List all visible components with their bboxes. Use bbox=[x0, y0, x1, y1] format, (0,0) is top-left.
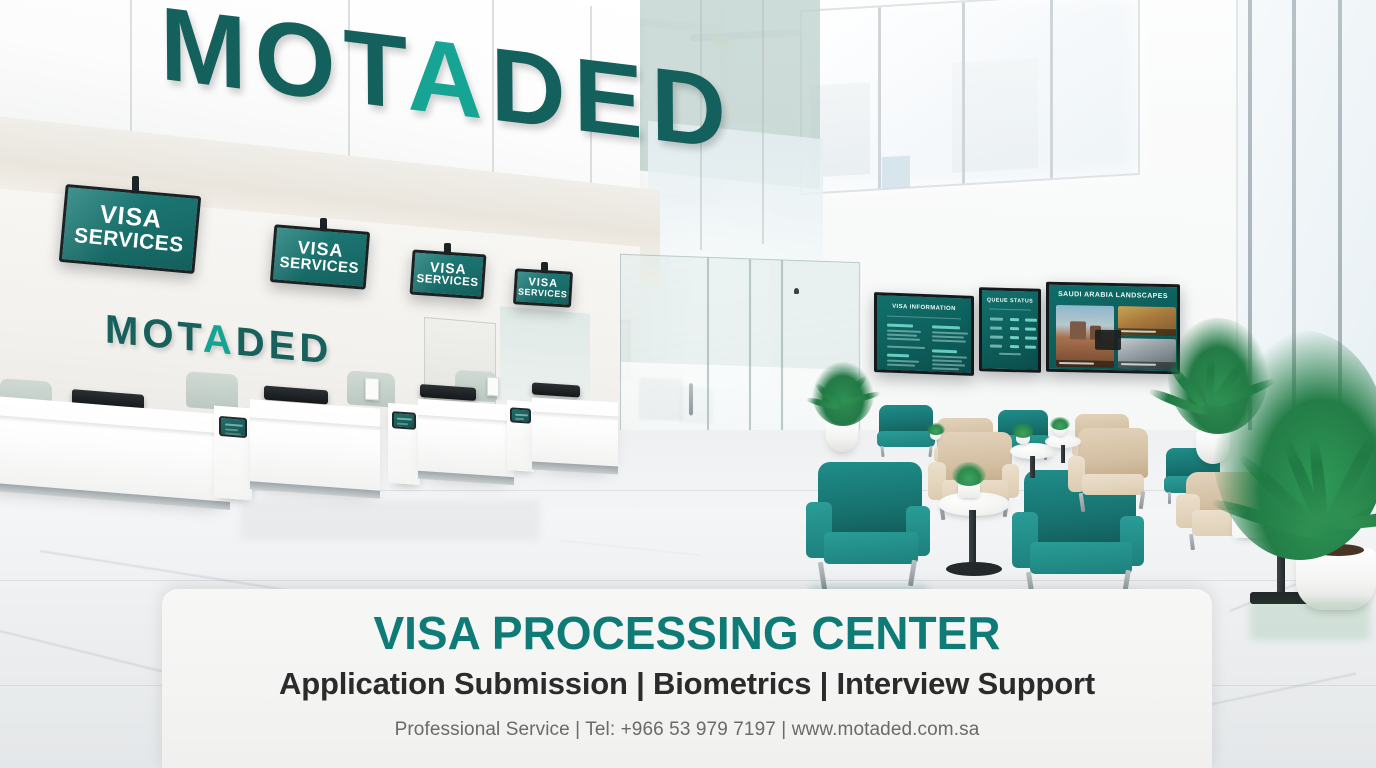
panel-footer bbox=[982, 341, 1038, 361]
queue-row-label bbox=[990, 317, 1003, 320]
queue-row-label bbox=[990, 335, 1003, 338]
sign-line-1: VISA bbox=[297, 238, 344, 260]
sign-line-1: VISA bbox=[430, 260, 468, 277]
hanging-sign-visa-services-3: VISA SERVICES bbox=[410, 249, 487, 299]
panel-title: SAUDI ARABIA LANDSCAPES bbox=[1049, 291, 1177, 300]
table-stem bbox=[1030, 456, 1035, 478]
panel-text-line bbox=[887, 360, 919, 363]
sign-line-2: SERVICES bbox=[518, 287, 568, 299]
panel-text-line bbox=[932, 331, 968, 334]
lounge-chair-beige-mid-right bbox=[1068, 428, 1156, 520]
kiosk-screen-2[interactable] bbox=[392, 411, 416, 430]
hanging-sign-visa-services-1: VISA SERVICES bbox=[59, 184, 202, 274]
security-camera-icon bbox=[794, 288, 799, 294]
panel-heading bbox=[887, 324, 913, 328]
sign-line-1: VISA bbox=[99, 203, 163, 234]
queue-row-label bbox=[990, 326, 1002, 329]
display-panel-queue-status[interactable]: QUEUE STATUS bbox=[979, 287, 1041, 373]
queue-row-value bbox=[1010, 318, 1019, 321]
succulent-foliage bbox=[952, 462, 986, 486]
thumbnail-overlay bbox=[1095, 330, 1121, 350]
clerestory-window bbox=[800, 0, 1140, 195]
landscape-thumbnail bbox=[1118, 338, 1176, 369]
landscape-thumbnail bbox=[1118, 306, 1176, 336]
logo-text-after: DED bbox=[236, 320, 332, 373]
sign-line-2: SERVICES bbox=[73, 225, 184, 257]
door-handle[interactable] bbox=[689, 383, 693, 415]
display-panel-visa-information[interactable]: VISA INFORMATION bbox=[874, 292, 974, 376]
floor-reflection bbox=[240, 500, 540, 540]
panel-text-line bbox=[932, 367, 959, 370]
table-stem bbox=[1061, 445, 1065, 463]
thumbnail-caption bbox=[1118, 328, 1176, 336]
reception-counter-3 bbox=[418, 399, 514, 481]
panel-text-line bbox=[887, 364, 915, 367]
panel-title: QUEUE STATUS bbox=[982, 297, 1038, 305]
info-banner: VISA PROCESSING CENTER Application Submi… bbox=[162, 589, 1212, 768]
panel-heading bbox=[932, 325, 960, 329]
panel-divider bbox=[887, 316, 961, 320]
panel-divider bbox=[989, 308, 1031, 310]
banner-contact-line: Professional Service | Tel: +966 53 979 … bbox=[395, 719, 980, 741]
panel-heading bbox=[932, 349, 957, 353]
sign-line-1: VISA bbox=[528, 277, 558, 290]
succulent-foliage bbox=[1050, 417, 1070, 430]
succulent-foliage bbox=[927, 423, 945, 435]
display-panel-saudi-landscapes[interactable]: SAUDI ARABIA LANDSCAPES bbox=[1046, 282, 1180, 375]
panel-heading bbox=[887, 354, 909, 358]
panel-text-line bbox=[932, 339, 966, 342]
panel-text-line bbox=[932, 359, 962, 362]
desk-sign bbox=[365, 378, 379, 401]
lounge-chair-teal-front-left bbox=[806, 462, 930, 594]
hanging-sign-visa-services-4: VISA SERVICES bbox=[513, 268, 573, 307]
panel-text-line bbox=[932, 355, 967, 358]
reception-counter-4 bbox=[532, 397, 618, 470]
queue-row-value bbox=[1010, 327, 1019, 330]
succulent-foliage bbox=[1012, 423, 1034, 438]
queue-row-status bbox=[1025, 336, 1037, 339]
table-base bbox=[946, 562, 1002, 576]
logo-text-accent: A bbox=[407, 16, 491, 142]
queue-row-value bbox=[1010, 336, 1019, 339]
logo-text-accent: A bbox=[203, 317, 236, 364]
sign-line-2: SERVICES bbox=[279, 255, 360, 277]
panel-text-line bbox=[887, 338, 920, 341]
sign-line-2: SERVICES bbox=[416, 273, 479, 289]
lobby-photo-scene: MOTADED MOTADED VISA SERVICES VISA SERVI… bbox=[0, 0, 1376, 768]
queue-row-status bbox=[1025, 318, 1037, 321]
staff-chair-back bbox=[186, 371, 238, 411]
panel-text-line bbox=[932, 335, 964, 338]
kiosk-screen-3[interactable] bbox=[510, 407, 531, 423]
panel-text-line bbox=[887, 334, 917, 337]
panel-text-line bbox=[887, 346, 925, 349]
panel-text-line bbox=[887, 330, 921, 333]
panel-title: VISA INFORMATION bbox=[877, 303, 971, 313]
reception-counter-2 bbox=[250, 399, 380, 495]
logo-text-before: MOT bbox=[105, 307, 203, 360]
kiosk-screen-1[interactable] bbox=[219, 416, 247, 438]
desk-sign bbox=[487, 377, 499, 397]
banner-title: VISA PROCESSING CENTER bbox=[373, 609, 1000, 657]
table-stem bbox=[969, 510, 976, 564]
banner-subtitle: Application Submission | Biometrics | In… bbox=[279, 666, 1095, 702]
thumbnail-caption bbox=[1056, 360, 1114, 368]
thumbnail-caption bbox=[1118, 361, 1176, 369]
queue-row-status bbox=[1025, 327, 1036, 330]
hanging-sign-visa-services-2: VISA SERVICES bbox=[270, 224, 370, 290]
panel-seam bbox=[762, 0, 764, 244]
panel-text-line bbox=[932, 363, 965, 366]
floor-reflection bbox=[1250, 600, 1370, 640]
